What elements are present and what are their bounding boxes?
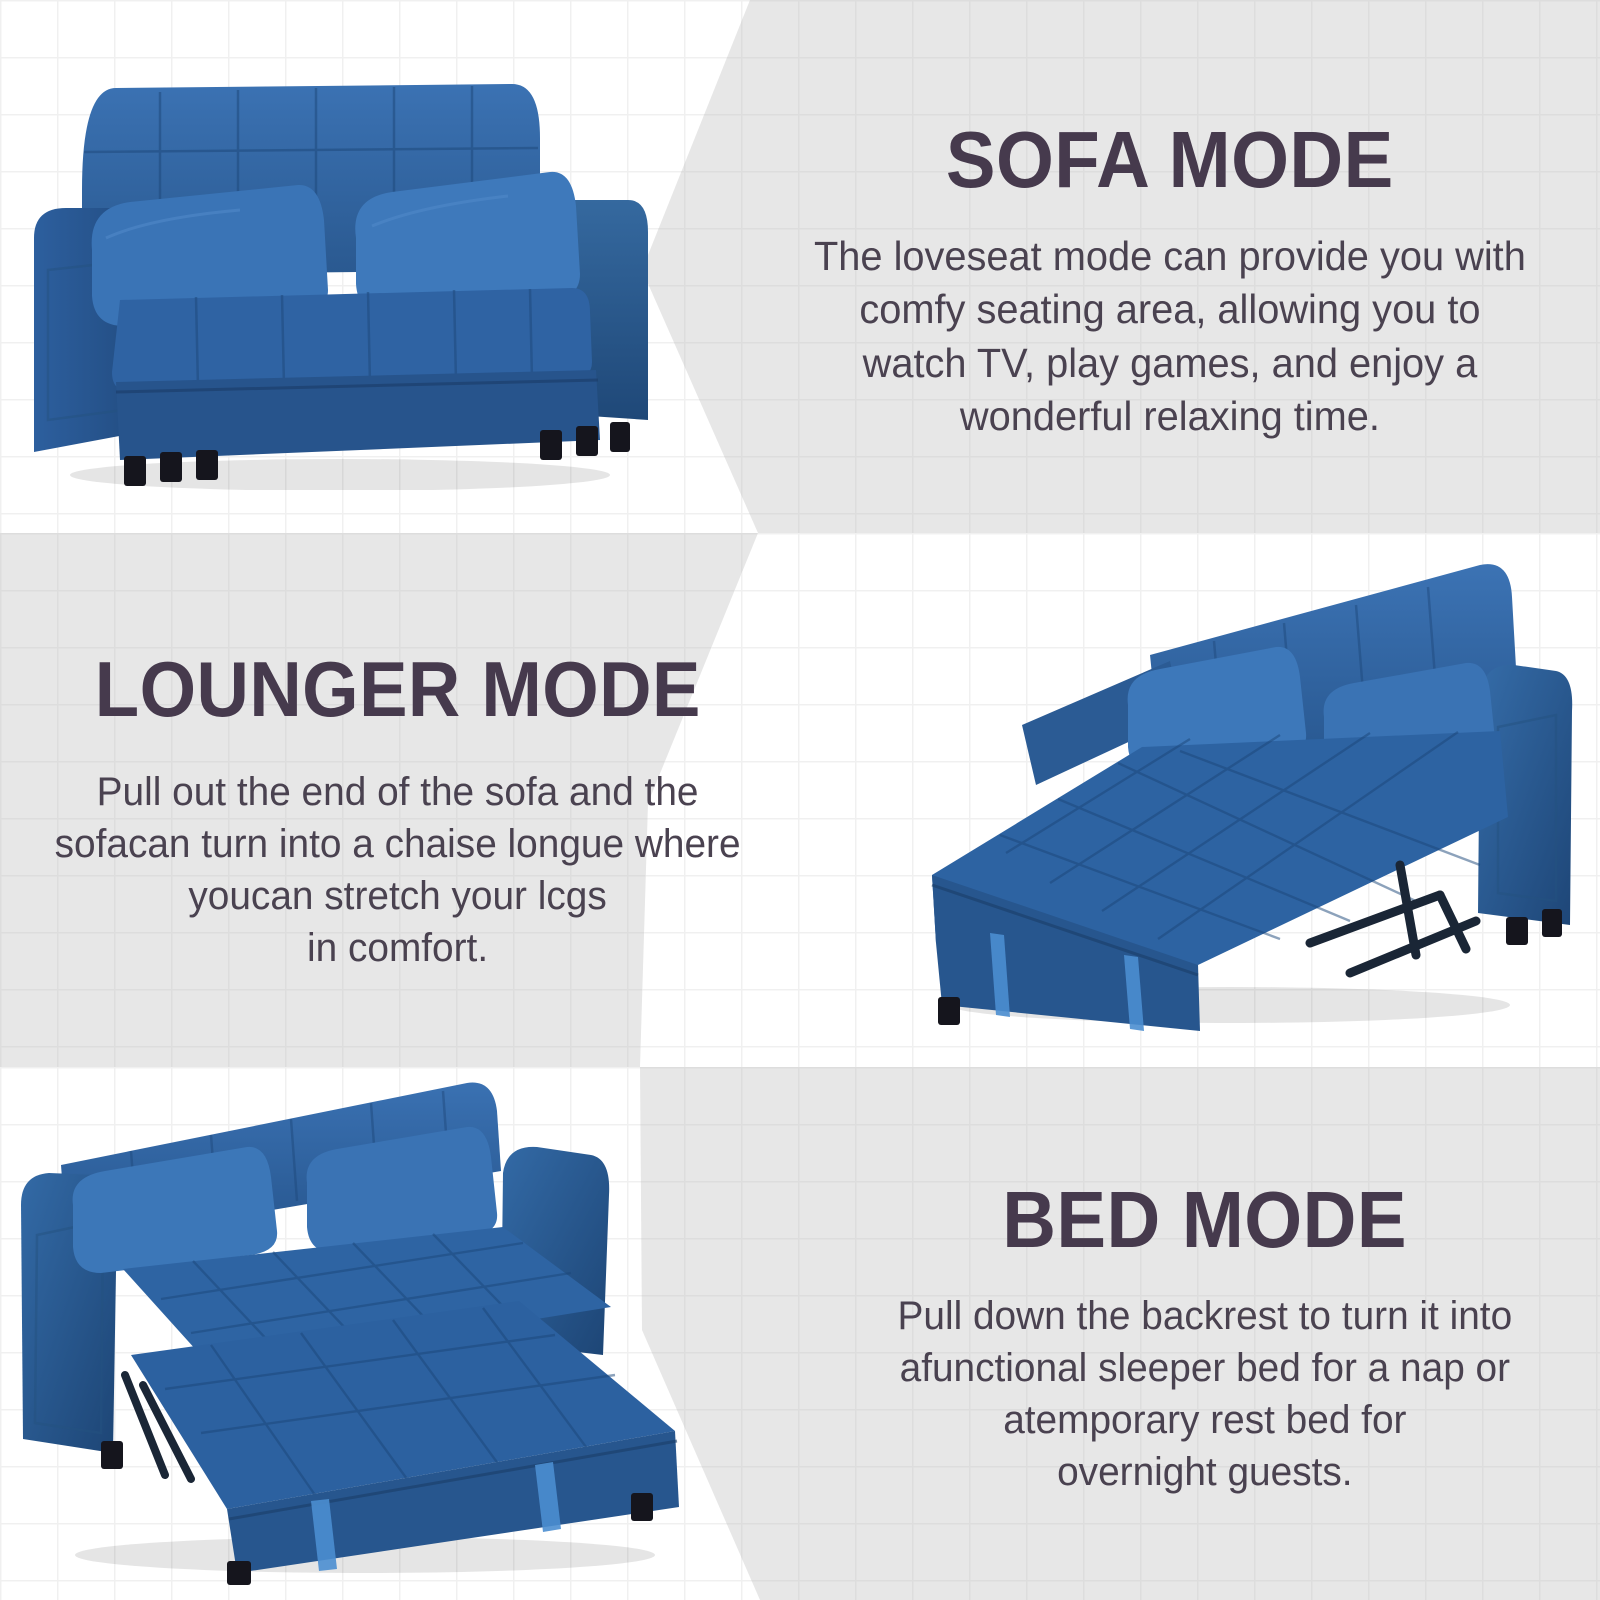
bed-mode-illustration xyxy=(15,1055,705,1585)
section-lounger-mode-text: LOUNGER MODE Pull out the end of the sof… xyxy=(25,650,770,974)
sofa-mode-body: The loveseat mode can provide you with c… xyxy=(814,230,1526,443)
section-sofa-mode-text: SOFA MODE The loveseat mode can provide … xyxy=(790,120,1550,443)
lounger-mode-illustration xyxy=(880,535,1580,1035)
sofa-mode-heading: SOFA MODE xyxy=(946,120,1394,200)
bed-mode-heading: BED MODE xyxy=(1003,1180,1408,1260)
infographic-page: SOFA MODE The loveseat mode can provide … xyxy=(0,0,1600,1600)
bed-mode-body: Pull down the backrest to turn it into a… xyxy=(898,1290,1513,1498)
sofa-mode-illustration xyxy=(20,60,660,490)
lounger-mode-body: Pull out the end of the sofa and the sof… xyxy=(55,766,741,974)
lounger-mode-heading: LOUNGER MODE xyxy=(94,650,700,728)
section-bed-mode-text: BED MODE Pull down the backrest to turn … xyxy=(845,1180,1565,1498)
